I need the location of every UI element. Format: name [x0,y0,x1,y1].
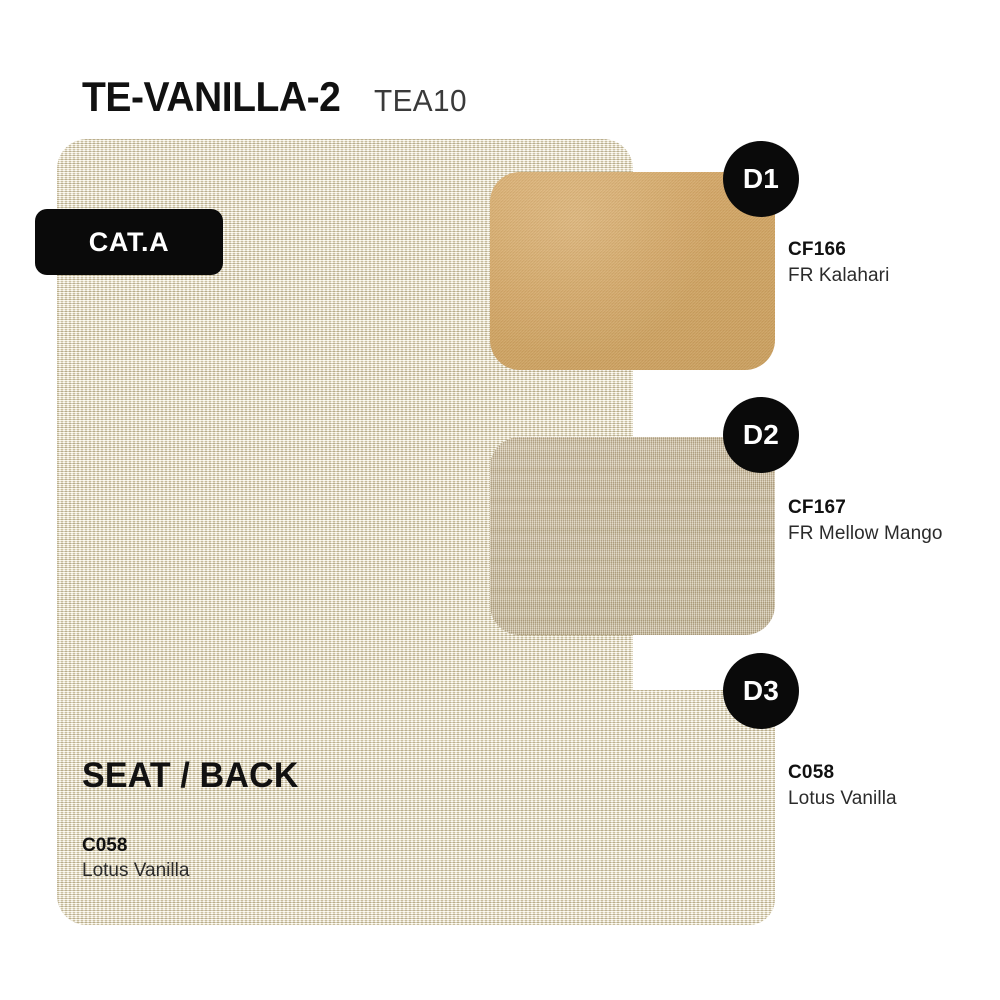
swatch-label-d1: CF166 FR Kalahari [788,237,889,288]
swatch-label-d3: C058 Lotus Vanilla [788,760,897,811]
seat-back-code: C058 [82,833,305,859]
category-badge: CAT.A [35,209,223,275]
badge-d1: D1 [723,141,799,217]
swatch-name-d3: Lotus Vanilla [788,786,897,812]
swatch-code-d1: CF166 [788,237,889,263]
seat-back-name: Lotus Vanilla [82,858,305,884]
category-badge-label: CAT.A [89,227,170,258]
badge-d1-label: D1 [743,163,779,195]
collection-name: TE-VANILLA-2 [82,73,340,121]
collection-code: TEA10 [374,83,467,119]
fabric-colorway-board: TE-VANILLA-2 TEA10 CAT.A D1 D2 D3 CF166 … [0,0,1000,1000]
swatch-code-d3: C058 [788,760,897,786]
swatch-name-d2: FR Mellow Mango [788,521,943,547]
seat-back-caption: SEAT / BACK C058 Lotus Vanilla [82,757,305,884]
swatch-label-d2: CF167 FR Mellow Mango [788,495,943,546]
badge-d2: D2 [723,397,799,473]
badge-d3: D3 [723,653,799,729]
badge-d2-label: D2 [743,419,779,451]
seat-back-title: SEAT / BACK [82,757,299,796]
badge-d3-label: D3 [743,675,779,707]
swatch-code-d2: CF167 [788,495,943,521]
page-title: TE-VANILLA-2 TEA10 [82,73,471,121]
swatch-name-d1: FR Kalahari [788,263,889,289]
fabric-swatch-d2[interactable] [490,437,775,635]
